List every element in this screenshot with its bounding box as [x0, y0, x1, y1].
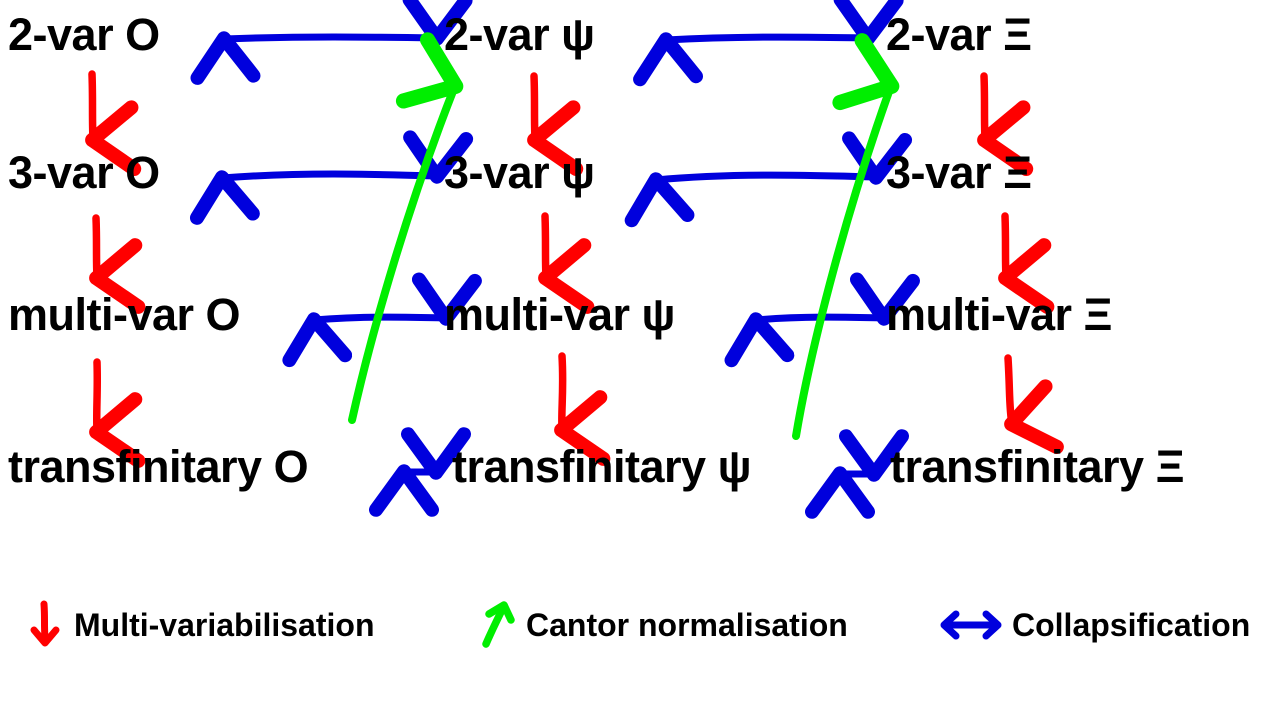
- edge-collapsification-row1-right: [666, 37, 868, 40]
- edge-collapsification-row3-right: [756, 317, 884, 320]
- node-label: multi-var ψ: [444, 289, 675, 340]
- legend-item-multi-variabilisation: Multi-variabilisation: [22, 598, 374, 652]
- edge-multi-variabilisation-col2-row2: [545, 216, 546, 278]
- legend-label: Multi-variabilisation: [74, 609, 374, 641]
- edge-multi-variabilisation-col1-row3: [97, 362, 98, 432]
- edge-collapsification-row2-left: [222, 174, 437, 178]
- node-3var-ordinal[interactable]: 3-var O: [8, 150, 160, 195]
- edge-collapsification-row3-left: [314, 317, 446, 320]
- node-label: transfinitary Ξ: [890, 441, 1184, 492]
- node-label: transfinitary O: [8, 441, 308, 492]
- edge-multi-variabilisation-col2-row1: [534, 76, 535, 140]
- node-label: 2-var Ξ: [886, 9, 1032, 60]
- node-3var-psi[interactable]: 3-var ψ: [444, 150, 594, 195]
- legend-item-collapsification: Collapsification: [930, 598, 1250, 652]
- edge-cantor-normalisation-left: [352, 86, 455, 420]
- up-arrow-icon: [470, 598, 526, 652]
- node-3var-xi[interactable]: 3-var Ξ: [886, 150, 1032, 195]
- node-multivar-psi[interactable]: multi-var ψ: [444, 292, 675, 337]
- edge-cantor-normalisation-right: [796, 86, 891, 436]
- edge-multi-variabilisation-col2-row3: [562, 356, 563, 430]
- node-label: 3-var O: [8, 147, 160, 198]
- node-label: 2-var O: [8, 9, 160, 60]
- node-transfinitary-xi[interactable]: transfinitary Ξ: [890, 444, 1184, 489]
- node-label: 3-var ψ: [444, 147, 594, 198]
- node-label: 2-var ψ: [444, 9, 594, 60]
- node-label: transfinitary ψ: [452, 441, 751, 492]
- node-2var-xi[interactable]: 2-var Ξ: [886, 12, 1032, 57]
- node-transfinitary-ordinal[interactable]: transfinitary O: [8, 444, 308, 489]
- node-multivar-ordinal[interactable]: multi-var O: [8, 292, 240, 337]
- node-label: multi-var Ξ: [886, 289, 1112, 340]
- edge-multi-variabilisation-col3-row2: [1005, 216, 1006, 278]
- node-label: multi-var O: [8, 289, 240, 340]
- node-2var-ordinal[interactable]: 2-var O: [8, 12, 160, 57]
- legend-label: Cantor normalisation: [526, 609, 848, 641]
- double-arrow-icon: [930, 598, 1012, 652]
- node-multivar-xi[interactable]: multi-var Ξ: [886, 292, 1112, 337]
- node-label: 3-var Ξ: [886, 147, 1032, 198]
- legend-item-cantor-normalisation: Cantor normalisation: [470, 598, 848, 652]
- edge-multi-variabilisation-col1-row2: [96, 218, 97, 278]
- edge-collapsification-row1-left: [224, 37, 437, 39]
- edge-collapsification-row2-right: [656, 175, 876, 180]
- edge-multi-variabilisation-col3-row1: [984, 76, 985, 140]
- node-2var-psi[interactable]: 2-var ψ: [444, 12, 594, 57]
- edge-multi-variabilisation-col1-row1: [92, 74, 93, 140]
- diagram-canvas: 2-var O 2-var ψ 2-var Ξ 3-var O 3-var ψ …: [0, 0, 1280, 720]
- down-arrow-icon: [22, 598, 74, 652]
- legend-label: Collapsification: [1012, 609, 1250, 641]
- edge-multi-variabilisation-col3-row3: [1008, 358, 1012, 424]
- node-transfinitary-psi[interactable]: transfinitary ψ: [452, 444, 751, 489]
